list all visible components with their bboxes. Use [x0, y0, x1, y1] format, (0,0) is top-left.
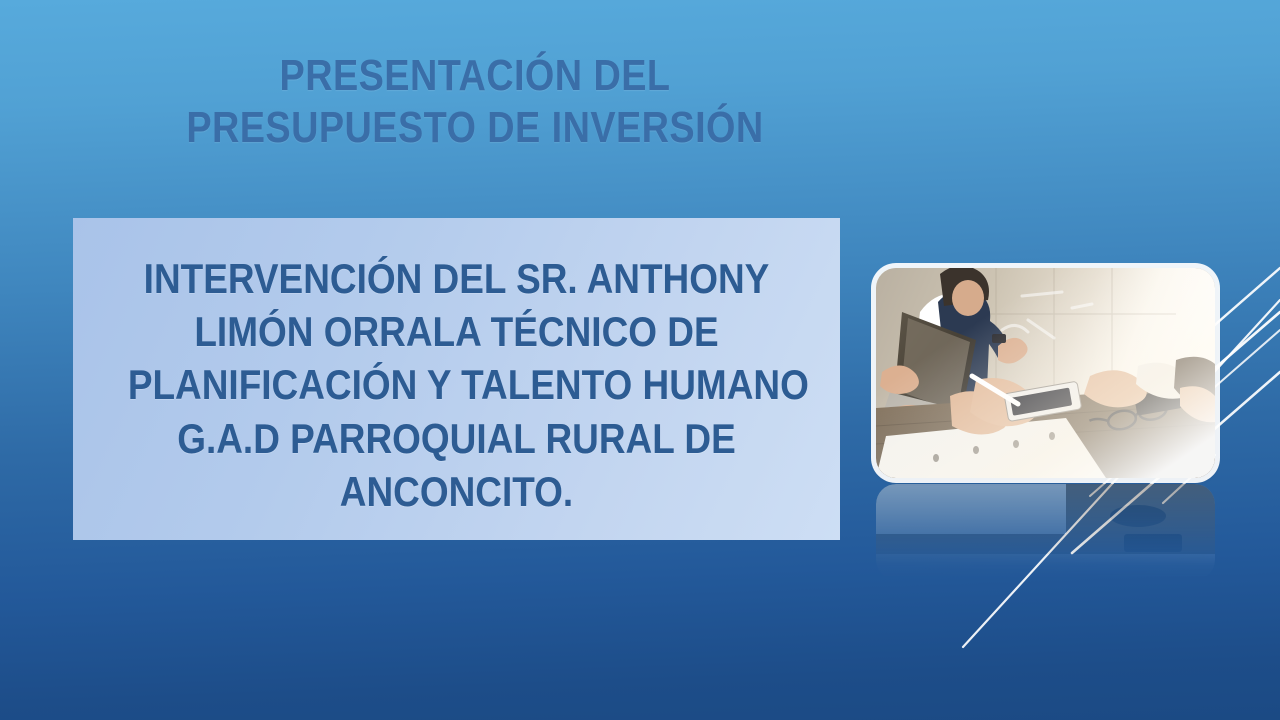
body-text-box: INTERVENCIÓN DEL SR. ANTHONY LIMÓN ORRAL…	[73, 218, 840, 540]
photo-container	[876, 268, 1215, 478]
business-meeting-photo	[876, 268, 1215, 478]
title-line-1: PRESENTACIÓN DEL	[118, 50, 832, 102]
body-line-4: G.A.D PARROQUIAL RURAL DE	[128, 412, 785, 465]
title-line-2: PRESUPUESTO DE INVERSIÓN	[118, 102, 832, 154]
photo-reflection	[876, 484, 1215, 580]
body-line-2: LIMÓN ORRALA TÉCNICO DE	[128, 305, 785, 358]
slide-title: PRESENTACIÓN DEL PRESUPUESTO DE INVERSIÓ…	[60, 50, 890, 154]
body-line-3: PLANIFICACIÓN Y TALENTO HUMANO	[128, 358, 785, 411]
body-line-5: ANCONCITO.	[128, 465, 785, 518]
presentation-slide: PRESENTACIÓN DEL PRESUPUESTO DE INVERSIÓ…	[0, 0, 1280, 720]
body-line-1: INTERVENCIÓN DEL SR. ANTHONY	[128, 252, 785, 305]
